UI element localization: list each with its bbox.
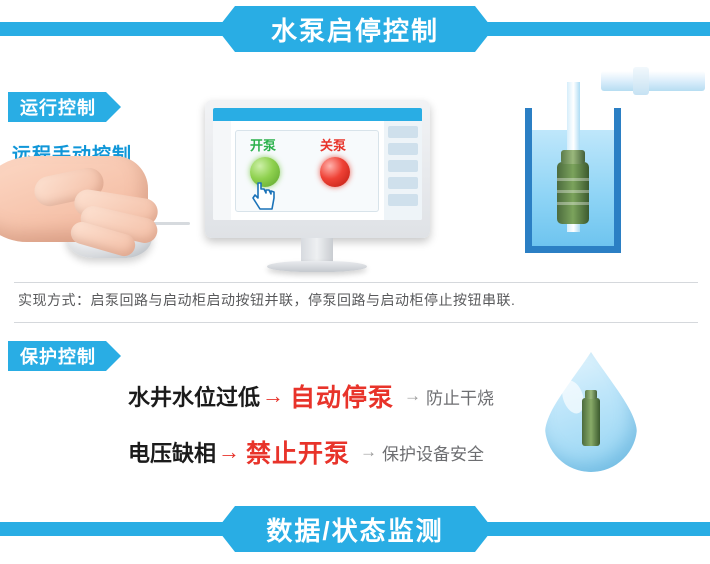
submersible-pump-head bbox=[561, 150, 585, 164]
screen-left-strip bbox=[213, 121, 231, 220]
bottom-banner-bar-right bbox=[465, 522, 710, 536]
screen-control-panel: 开泵 关泵 bbox=[235, 130, 379, 212]
rule-arrow-icon: → bbox=[218, 439, 240, 465]
rule-arrow-icon: → bbox=[262, 383, 284, 409]
monitor-base bbox=[267, 261, 367, 272]
top-banner: 水泵启停控制 bbox=[0, 0, 710, 58]
pump-stripe bbox=[557, 178, 589, 181]
water-drop-illustration bbox=[545, 352, 637, 472]
pump-stripe bbox=[557, 202, 589, 205]
screen-right-sidebar bbox=[384, 121, 422, 220]
hand-cursor-icon bbox=[252, 181, 278, 211]
rule-effect: 保护设备安全 bbox=[382, 440, 484, 465]
desktop-monitor-illustration: 开泵 关泵 bbox=[205, 100, 430, 275]
rule-arrow2-icon: → bbox=[404, 386, 421, 406]
tag-run-control: 运行控制 bbox=[8, 92, 106, 122]
tag-protect-control-label: 保护控制 bbox=[20, 343, 96, 369]
pipe-flange bbox=[633, 67, 649, 95]
hand-on-mouse-illustration bbox=[0, 150, 200, 265]
pump-stripe bbox=[557, 190, 589, 193]
note-divider-top bbox=[14, 282, 698, 283]
note-divider-bottom bbox=[14, 322, 698, 323]
submersible-pump-body bbox=[557, 162, 589, 224]
drop-pump-body bbox=[582, 398, 600, 446]
rule-action: 自动停泵 bbox=[290, 378, 394, 414]
tag-run-control-label: 运行控制 bbox=[20, 94, 96, 120]
top-banner-bar-left bbox=[0, 22, 245, 36]
protection-rule-row: 水井水位过低 → 自动停泵 → 防止干烧 bbox=[128, 378, 494, 414]
bottom-banner: 数据/状态监测 bbox=[0, 500, 710, 558]
sidebar-row bbox=[388, 194, 418, 206]
start-pump-label: 开泵 bbox=[250, 135, 276, 154]
stop-pump-label: 关泵 bbox=[320, 135, 346, 154]
protection-rule-row: 电压缺相 → 禁止开泵 → 保护设备安全 bbox=[128, 434, 484, 470]
bottom-banner-bar-left bbox=[0, 522, 245, 536]
screen-app-topbar bbox=[213, 108, 422, 121]
tag-protect-control: 保护控制 bbox=[8, 341, 106, 371]
top-banner-ribbon: 水泵启停控制 bbox=[235, 6, 475, 52]
rule-arrow2-icon: → bbox=[360, 442, 377, 462]
sidebar-row bbox=[388, 160, 418, 172]
stop-pump-button[interactable] bbox=[320, 157, 350, 187]
rule-condition: 水井水位过低 bbox=[128, 380, 260, 412]
top-banner-bar-right bbox=[465, 22, 710, 36]
rule-condition: 电压缺相 bbox=[128, 436, 216, 468]
bottom-banner-ribbon: 数据/状态监测 bbox=[235, 506, 475, 552]
rule-effect: 防止干烧 bbox=[426, 384, 494, 409]
implementation-note: 实现方式：启泵回路与启动柜启动按钮并联，停泵回路与启动柜停止按钮串联. bbox=[18, 290, 515, 310]
sidebar-row bbox=[388, 177, 418, 189]
discharge-pipe bbox=[601, 71, 705, 91]
poster-stage: 水泵启停控制 运行控制 远程手动控制 保护控制 bbox=[0, 0, 710, 564]
well-pump-illustration bbox=[505, 58, 705, 258]
top-banner-title: 水泵启停控制 bbox=[271, 11, 439, 48]
rule-action: 禁止开泵 bbox=[246, 434, 350, 470]
drop-pump-head bbox=[585, 390, 597, 399]
sidebar-row bbox=[388, 126, 418, 138]
sidebar-row bbox=[388, 143, 418, 155]
monitor-screen: 开泵 关泵 bbox=[213, 108, 422, 220]
bottom-banner-title: 数据/状态监测 bbox=[266, 511, 443, 548]
